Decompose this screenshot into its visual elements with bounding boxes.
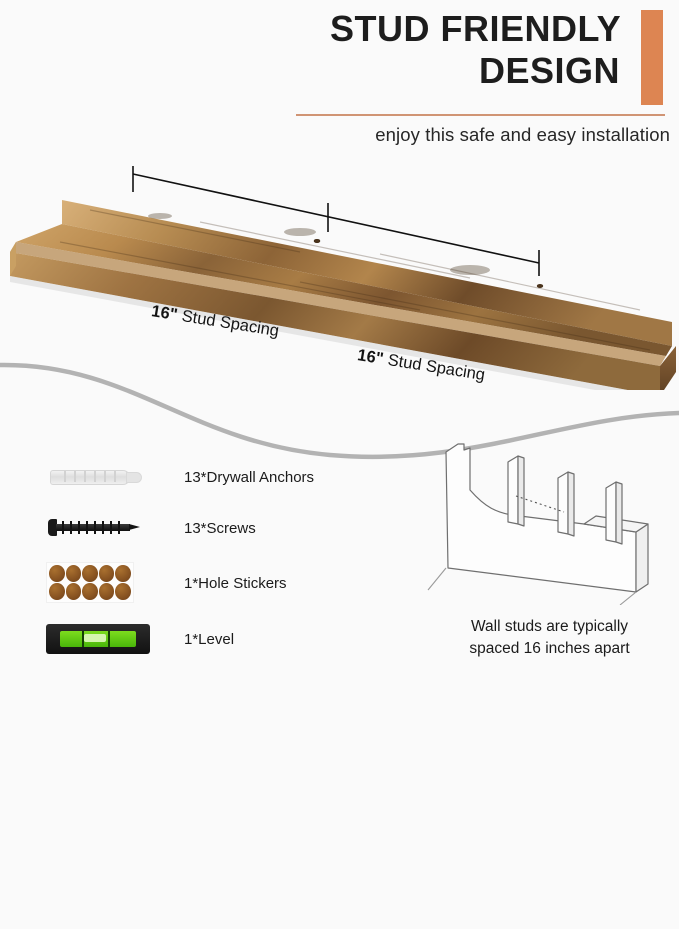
infographic-canvas: STUD FRIENDLY DESIGN enjoy this safe and… [0, 0, 679, 667]
part-label: 1*Hole Stickers [184, 575, 287, 592]
wall-stud-svg [424, 430, 679, 605]
wall-stud-diagram: 16" [424, 430, 679, 605]
shelf-illustration: 16" Stud Spacing 16" Stud Spacing [0, 150, 679, 390]
header-title-block: STUD FRIENDLY DESIGN [330, 8, 620, 92]
level-icon [38, 616, 166, 662]
list-item: 13*Screws [38, 503, 368, 553]
shelf-svg [0, 150, 679, 390]
orange-accent-bar [641, 10, 663, 105]
header-divider-rule [296, 114, 665, 116]
page-title-line-1: STUD FRIENDLY [330, 8, 620, 50]
caption-line-2: spaced 16 inches apart [420, 638, 679, 660]
list-item: 1*Hole Stickers [38, 554, 368, 612]
part-label: 1*Level [184, 631, 234, 648]
hole-stickers-icon [38, 560, 166, 606]
page-title-line-2: DESIGN [330, 50, 620, 92]
part-label: 13*Drywall Anchors [184, 469, 314, 486]
stud-diagram-caption: Wall studs are typically spaced 16 inche… [420, 616, 679, 660]
page-subtitle: enjoy this safe and easy installation [290, 124, 670, 146]
list-item: 13*Drywall Anchors [38, 452, 368, 502]
list-item: 1*Level [38, 613, 368, 665]
caption-line-1: Wall studs are typically [420, 616, 679, 638]
parts-list: 13*Drywall Anchors 13*Screws [38, 452, 368, 666]
stud-spacing-value-1: 16" [150, 302, 179, 324]
drywall-anchor-icon [38, 454, 166, 500]
part-label: 13*Screws [184, 520, 256, 537]
screw-icon [38, 505, 166, 551]
